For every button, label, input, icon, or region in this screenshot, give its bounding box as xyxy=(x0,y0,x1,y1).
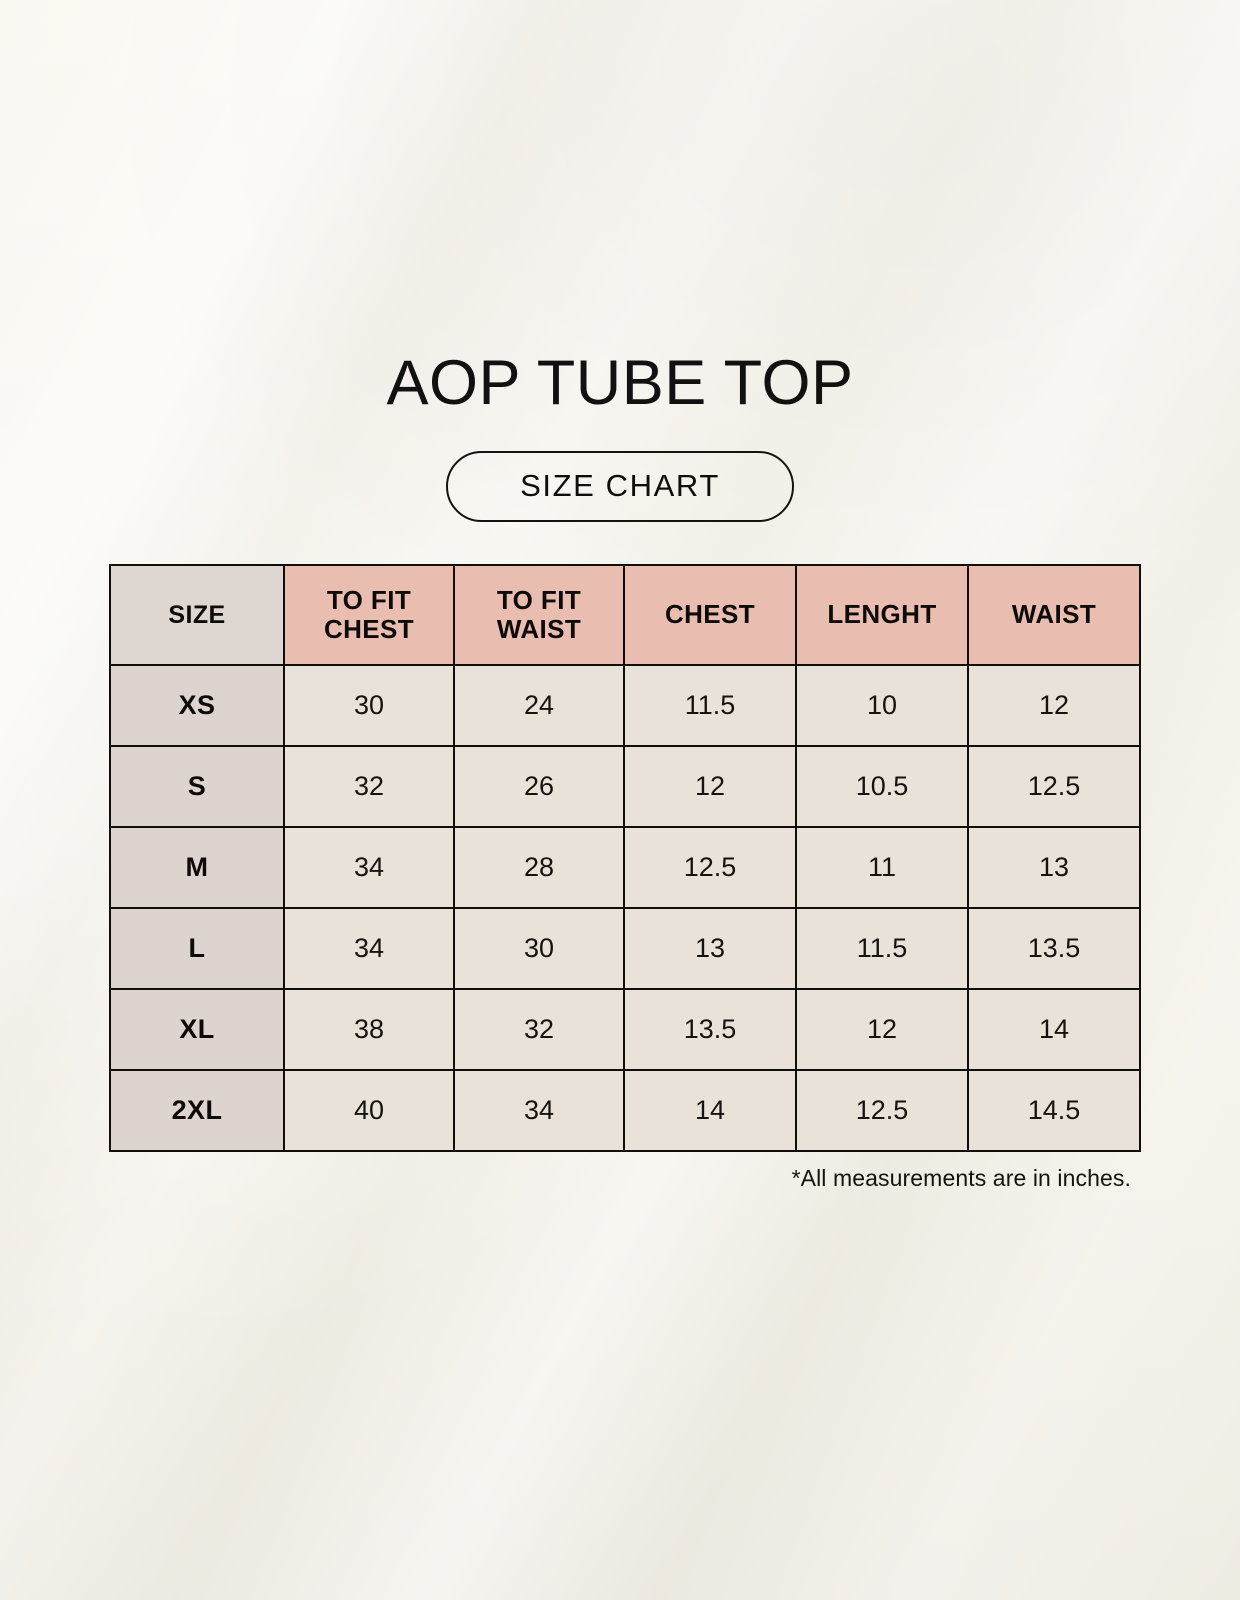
cell-size: XL xyxy=(110,989,284,1070)
cell-chest: 11.5 xyxy=(624,665,796,746)
cell-waist: 14.5 xyxy=(968,1070,1140,1151)
column-header-size: SIZE xyxy=(110,565,284,665)
table-row: XS 30 24 11.5 10 12 xyxy=(110,665,1140,746)
cell-to-fit-waist: 30 xyxy=(454,908,624,989)
cell-to-fit-waist: 24 xyxy=(454,665,624,746)
cell-chest: 12.5 xyxy=(624,827,796,908)
header-row: SIZE TO FIT CHEST TO FIT WAIST CHEST LEN… xyxy=(110,565,1140,665)
table-row: L 34 30 13 11.5 13.5 xyxy=(110,908,1140,989)
cell-waist: 14 xyxy=(968,989,1140,1070)
cell-waist: 13 xyxy=(968,827,1140,908)
header-line-1: TO FIT xyxy=(327,585,411,615)
table-body: XS 30 24 11.5 10 12 S 32 26 12 10.5 12.5… xyxy=(110,665,1140,1151)
cell-waist: 12 xyxy=(968,665,1140,746)
cell-waist: 13.5 xyxy=(968,908,1140,989)
cell-chest: 13.5 xyxy=(624,989,796,1070)
cell-chest: 12 xyxy=(624,746,796,827)
cell-waist: 12.5 xyxy=(968,746,1140,827)
column-header-lenght: LENGHT xyxy=(796,565,968,665)
cell-to-fit-chest: 32 xyxy=(284,746,454,827)
size-chart-page: AOP TUBE TOP SIZE CHART SIZE TO FIT CHES… xyxy=(0,0,1240,1192)
cell-lenght: 11 xyxy=(796,827,968,908)
measurement-note: *All measurements are in inches. xyxy=(109,1165,1131,1192)
cell-size: S xyxy=(110,746,284,827)
table-row: 2XL 40 34 14 12.5 14.5 xyxy=(110,1070,1140,1151)
cell-to-fit-waist: 28 xyxy=(454,827,624,908)
cell-size: XS xyxy=(110,665,284,746)
cell-chest: 13 xyxy=(624,908,796,989)
size-chart-badge: SIZE CHART xyxy=(446,451,794,522)
cell-to-fit-waist: 32 xyxy=(454,989,624,1070)
cell-size: M xyxy=(110,827,284,908)
cell-to-fit-chest: 30 xyxy=(284,665,454,746)
header-line-2: WAIST xyxy=(497,614,581,644)
column-header-chest: CHEST xyxy=(624,565,796,665)
table-row: M 34 28 12.5 11 13 xyxy=(110,827,1140,908)
badge-row: SIZE CHART xyxy=(0,451,1240,522)
cell-size: L xyxy=(110,908,284,989)
cell-to-fit-chest: 38 xyxy=(284,989,454,1070)
cell-lenght: 11.5 xyxy=(796,908,968,989)
cell-lenght: 12.5 xyxy=(796,1070,968,1151)
column-header-to-fit-chest: TO FIT CHEST xyxy=(284,565,454,665)
cell-to-fit-waist: 26 xyxy=(454,746,624,827)
table-row: S 32 26 12 10.5 12.5 xyxy=(110,746,1140,827)
column-header-waist: WAIST xyxy=(968,565,1140,665)
size-chart-table: SIZE TO FIT CHEST TO FIT WAIST CHEST LEN… xyxy=(109,564,1141,1152)
cell-to-fit-chest: 40 xyxy=(284,1070,454,1151)
cell-chest: 14 xyxy=(624,1070,796,1151)
size-chart-table-wrap: SIZE TO FIT CHEST TO FIT WAIST CHEST LEN… xyxy=(109,564,1131,1152)
cell-to-fit-chest: 34 xyxy=(284,827,454,908)
header-line-1: TO FIT xyxy=(497,585,581,615)
table-row: XL 38 32 13.5 12 14 xyxy=(110,989,1140,1070)
cell-to-fit-chest: 34 xyxy=(284,908,454,989)
page-title: AOP TUBE TOP xyxy=(0,352,1240,415)
cell-lenght: 10.5 xyxy=(796,746,968,827)
table-header: SIZE TO FIT CHEST TO FIT WAIST CHEST LEN… xyxy=(110,565,1140,665)
cell-lenght: 12 xyxy=(796,989,968,1070)
header-line-2: CHEST xyxy=(324,614,414,644)
column-header-to-fit-waist: TO FIT WAIST xyxy=(454,565,624,665)
cell-lenght: 10 xyxy=(796,665,968,746)
cell-to-fit-waist: 34 xyxy=(454,1070,624,1151)
cell-size: 2XL xyxy=(110,1070,284,1151)
